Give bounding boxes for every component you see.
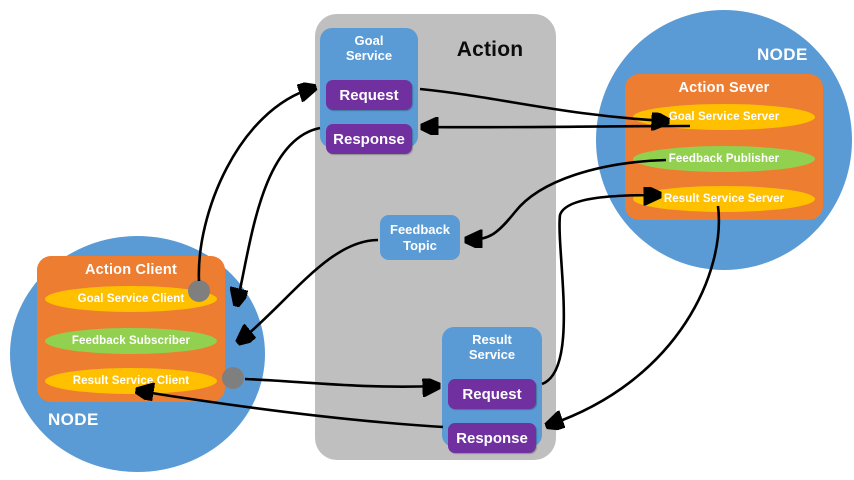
goal-service-request[interactable]: Request (326, 80, 412, 110)
node-label-client: NODE (48, 410, 99, 430)
feedback-topic-line2: Topic (403, 238, 437, 253)
pill-result-service-client[interactable]: Result Service Client (45, 368, 217, 394)
pill-feedback-publisher[interactable]: Feedback Publisher (633, 146, 815, 172)
pill-result-service-server[interactable]: Result Service Server (633, 186, 815, 212)
goal-service-title-line1: Goal (355, 33, 384, 48)
goal-service-title: Goal Service (320, 33, 418, 63)
action-server-box: Action Sever Goal Service Server Feedbac… (625, 74, 823, 220)
node-label-server: NODE (757, 45, 808, 65)
result-service-title-line2: Service (469, 347, 515, 362)
feedback-topic-label: Feedback Topic (390, 222, 450, 254)
goal-service-box: Goal Service Request Response (320, 28, 418, 148)
action-client-title: Action Client (37, 262, 225, 278)
result-service-box: Result Service Request Response (442, 327, 542, 447)
pill-feedback-subscriber[interactable]: Feedback Subscriber (45, 328, 217, 354)
result-service-request[interactable]: Request (448, 379, 536, 409)
pill-goal-service-server[interactable]: Goal Service Server (633, 104, 815, 130)
feedback-topic-box[interactable]: Feedback Topic (380, 215, 460, 260)
result-service-response[interactable]: Response (448, 423, 536, 453)
result-service-client-port-dot-icon (222, 367, 244, 389)
result-service-title-line1: Result (472, 332, 512, 347)
feedback-topic-line1: Feedback (390, 222, 450, 237)
action-server-title: Action Sever (625, 80, 823, 96)
arrow-response-to-goal-client (237, 128, 320, 303)
goal-service-title-line2: Service (346, 48, 392, 63)
arrow-goal-client-to-request (199, 88, 313, 281)
goal-service-response[interactable]: Response (326, 124, 412, 154)
diagram-canvas: Action Action Client Goal Service Client… (0, 0, 854, 480)
goal-service-client-port-dot-icon (188, 280, 210, 302)
action-client-box: Action Client Goal Service Client Feedba… (37, 256, 225, 402)
result-service-title: Result Service (442, 332, 542, 362)
action-panel-label: Action (430, 38, 550, 62)
